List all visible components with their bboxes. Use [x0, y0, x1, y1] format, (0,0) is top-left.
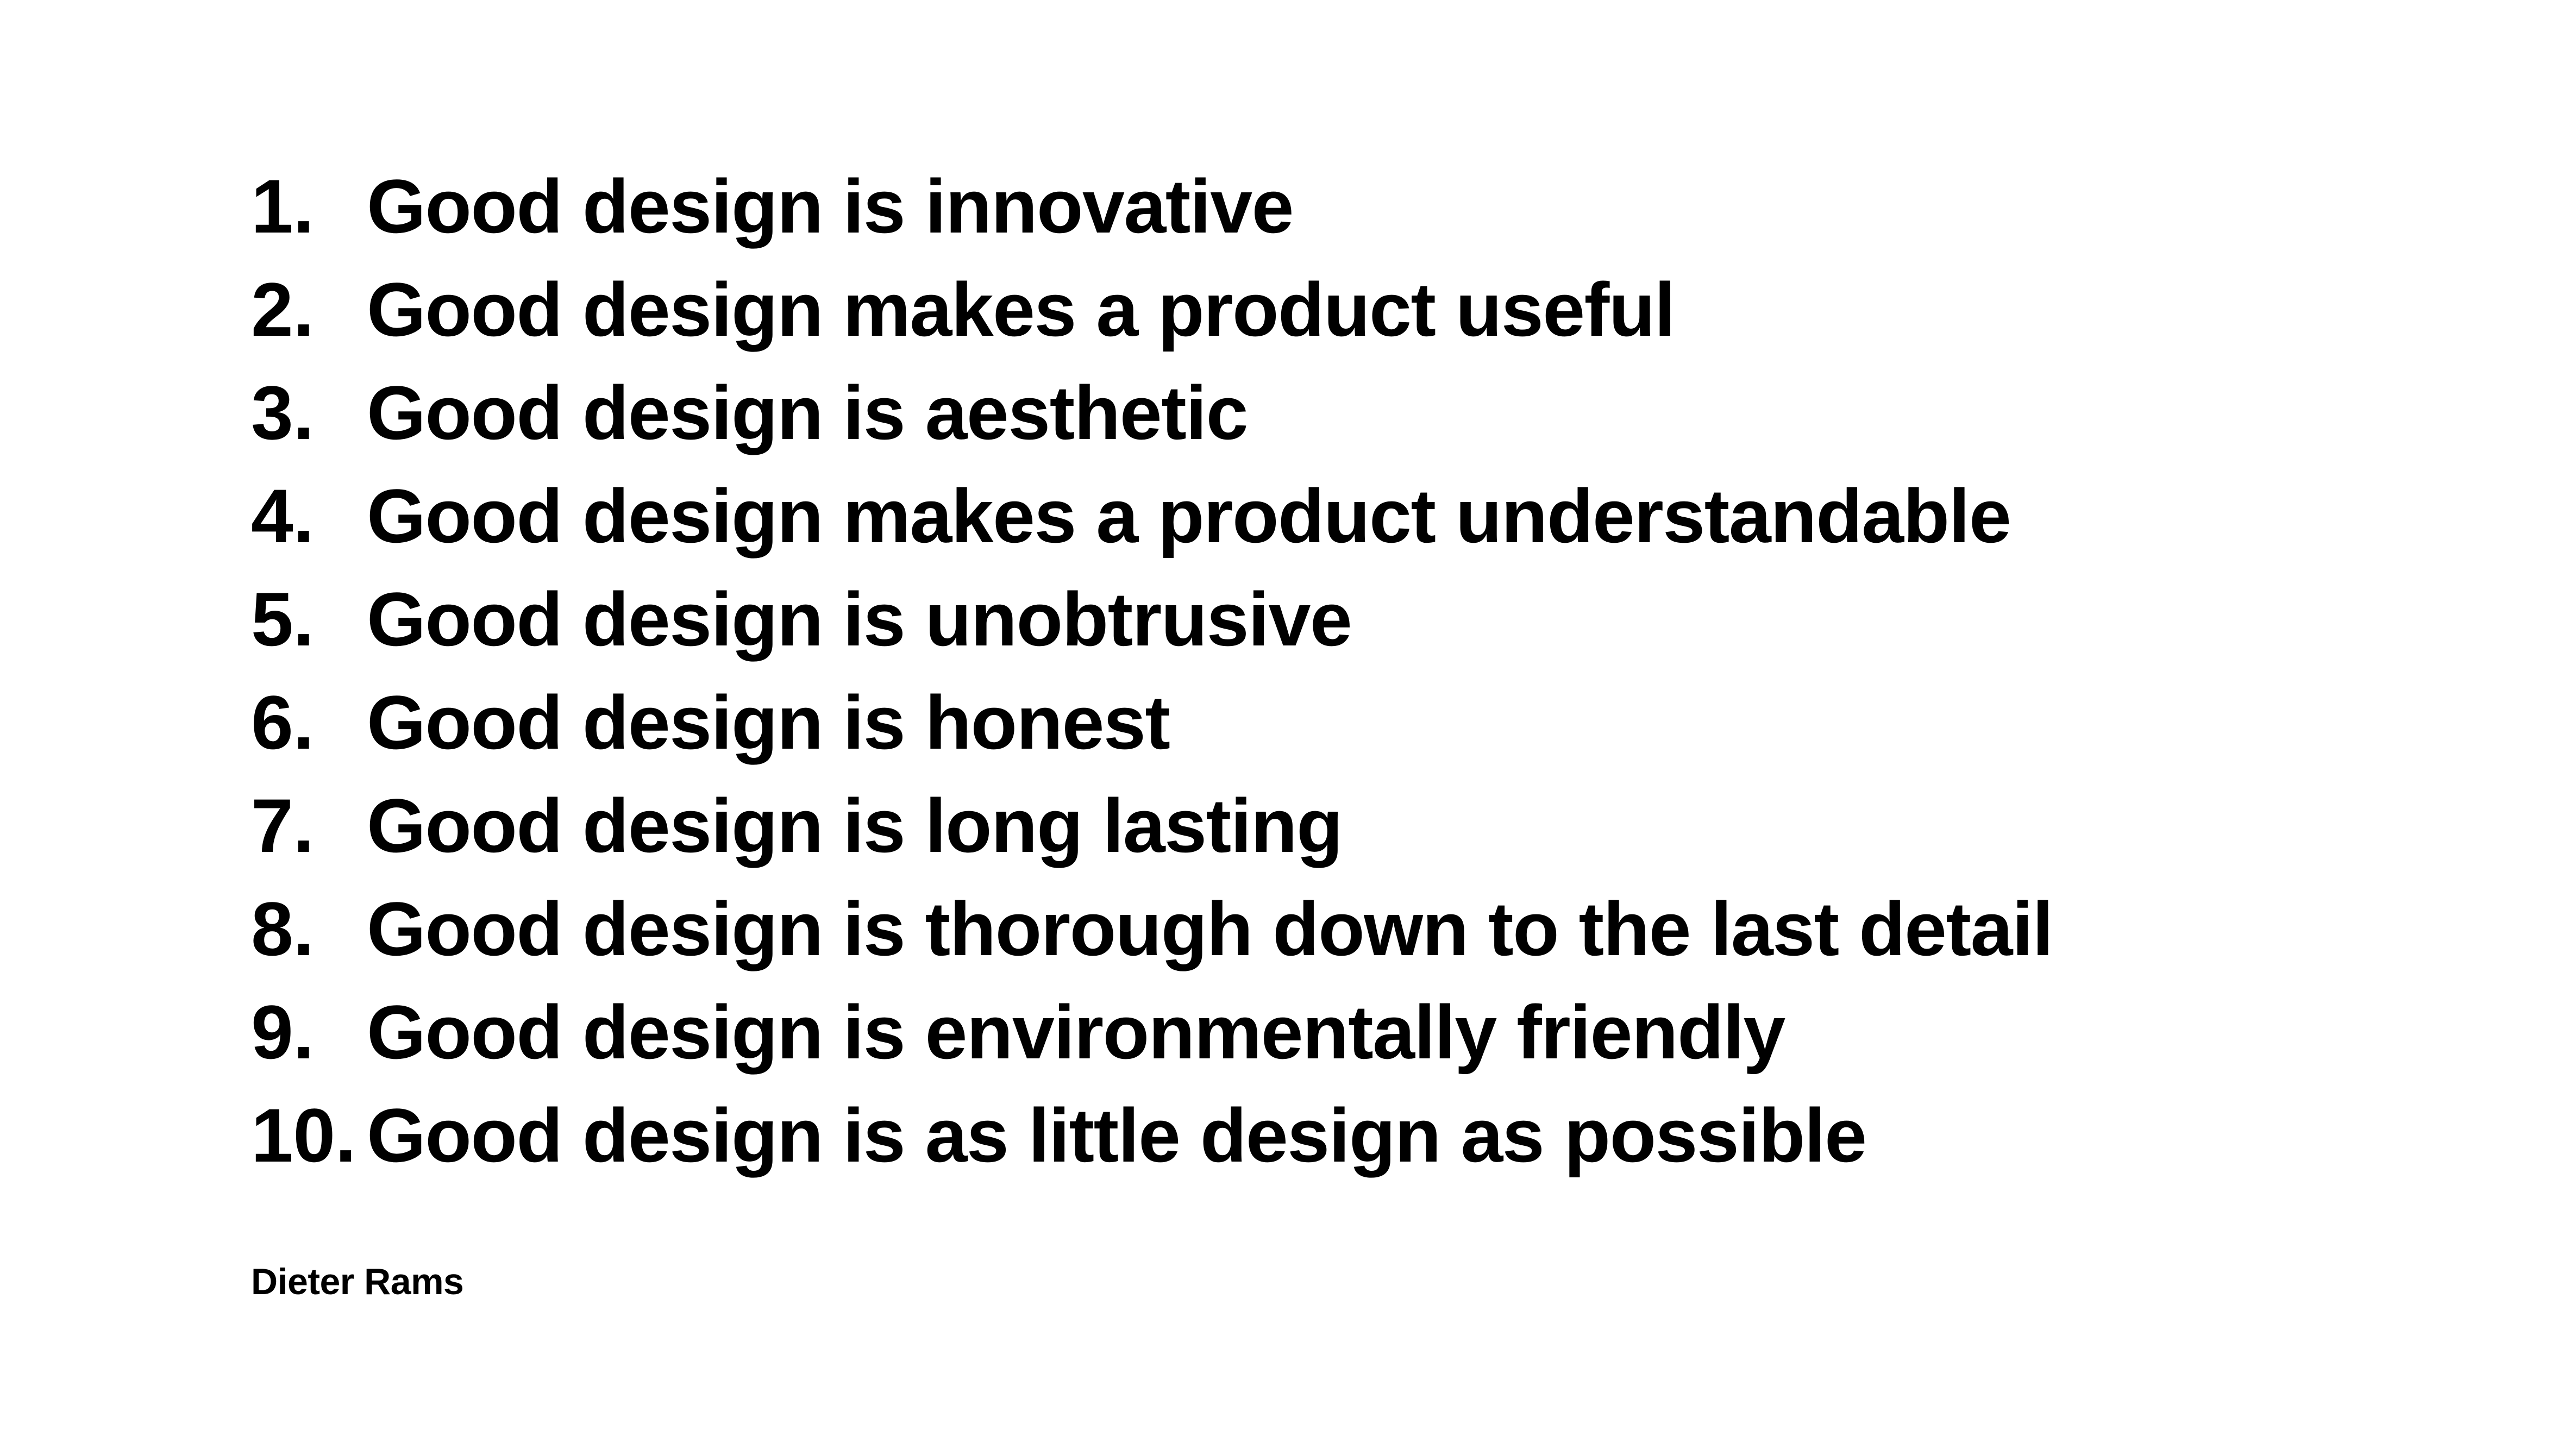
list-item-number: 6. — [251, 671, 367, 774]
list-item-text: Good design is long lasting — [367, 774, 1342, 877]
list-item-text: Good design is environmentally friendly — [367, 981, 1785, 1084]
list-item-number: 5. — [251, 568, 367, 671]
list-item: 7. Good design is long lasting — [251, 774, 2053, 877]
list-item: 6. Good design is honest — [251, 671, 2053, 774]
list-item-number: 9. — [251, 981, 367, 1084]
list-item: 3. Good design is aesthetic — [251, 361, 2053, 465]
list-item-number: 2. — [251, 258, 367, 361]
list-item-text: Good design is honest — [367, 671, 1169, 774]
list-item: 4. Good design makes a product understan… — [251, 465, 2053, 568]
list-item-number: 7. — [251, 774, 367, 877]
list-item-number: 1. — [251, 155, 367, 258]
list-item: 8. Good design is thorough down to the l… — [251, 877, 2053, 981]
list-item-number: 4. — [251, 465, 367, 568]
list-item-text: Good design is thorough down to the last… — [367, 877, 2053, 981]
list-item-text: Good design makes a product understandab… — [367, 465, 2010, 568]
list-item: 10. Good design is as little design as p… — [251, 1084, 2053, 1187]
list-item-number: 3. — [251, 361, 367, 465]
list-item: 1. Good design is innovative — [251, 155, 2053, 258]
list-item: 2. Good design makes a product useful — [251, 258, 2053, 361]
list-item-text: Good design makes a product useful — [367, 258, 1675, 361]
attribution-author: Dieter Rams — [251, 1263, 463, 1300]
list-item-text: Good design is unobtrusive — [367, 568, 1351, 671]
slide-canvas: 1. Good design is innovative 2. Good des… — [0, 0, 2576, 1449]
list-item-number: 8. — [251, 877, 367, 981]
principles-list: 1. Good design is innovative 2. Good des… — [251, 155, 2053, 1187]
list-item: 9. Good design is environmentally friend… — [251, 981, 2053, 1084]
list-item-text: Good design is innovative — [367, 155, 1293, 258]
list-item-text: Good design is as little design as possi… — [367, 1084, 1866, 1187]
list-item-text: Good design is aesthetic — [367, 361, 1248, 465]
list-item-number: 10. — [251, 1084, 367, 1187]
list-item: 5. Good design is unobtrusive — [251, 568, 2053, 671]
